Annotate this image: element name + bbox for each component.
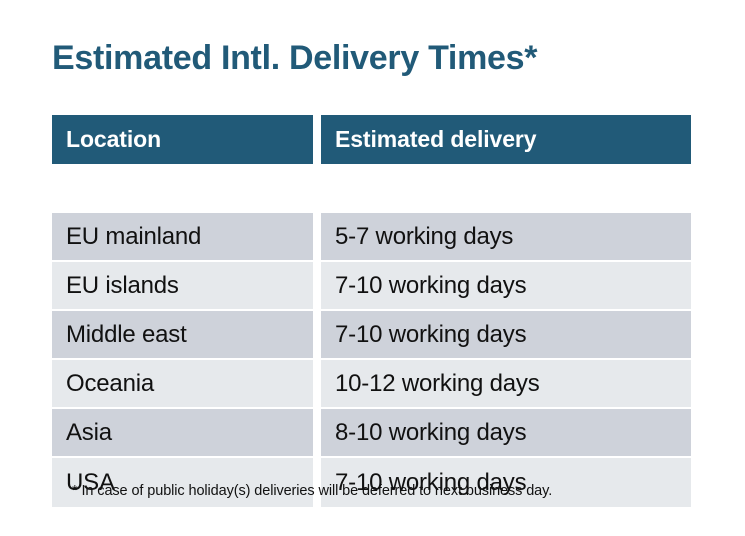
cell-location: EU islands xyxy=(52,262,313,311)
table-header-row: Location Estimated delivery xyxy=(52,115,691,164)
cell-location-text: Asia xyxy=(52,419,313,447)
cell-delivery-text: 7-10 working days xyxy=(321,321,691,349)
column-header-delivery: Estimated delivery xyxy=(321,115,691,164)
cell-location-text: EU mainland xyxy=(52,223,313,251)
row-gutter xyxy=(313,311,321,360)
delivery-times-page: Estimated Intl. Delivery Times* Location… xyxy=(0,0,745,536)
table-row: Asia 8-10 working days xyxy=(52,409,691,458)
cell-location: Middle east xyxy=(52,311,313,360)
column-header-location-label: Location xyxy=(52,126,313,153)
cell-location-text: Oceania xyxy=(52,370,313,398)
cell-location-text: EU islands xyxy=(52,272,313,300)
row-gutter xyxy=(313,360,321,409)
column-header-location: Location xyxy=(52,115,313,164)
spacer-cell-gutter xyxy=(313,164,321,213)
cell-location: EU mainland xyxy=(52,213,313,262)
column-gutter xyxy=(313,115,321,164)
table-row: EU mainland 5-7 working days xyxy=(52,213,691,262)
cell-delivery: 10-12 working days xyxy=(321,360,691,409)
cell-delivery-text: 8-10 working days xyxy=(321,419,691,447)
footnote: * In case of public holiday(s) deliverie… xyxy=(72,483,552,499)
page-title: Estimated Intl. Delivery Times* xyxy=(52,36,537,80)
cell-delivery-text: 10-12 working days xyxy=(321,370,691,398)
table-row: EU islands 7-10 working days xyxy=(52,262,691,311)
delivery-times-table: Location Estimated delivery EU mainland xyxy=(52,115,691,507)
cell-delivery-text: 7-10 working days xyxy=(321,272,691,300)
cell-location: Asia xyxy=(52,409,313,458)
cell-delivery: 7-10 working days xyxy=(321,262,691,311)
table-row: Middle east 7-10 working days xyxy=(52,311,691,360)
cell-delivery-text: 5-7 working days xyxy=(321,223,691,251)
row-gutter xyxy=(313,262,321,311)
cell-delivery: 7-10 working days xyxy=(321,311,691,360)
row-gutter xyxy=(313,409,321,458)
cell-location: Oceania xyxy=(52,360,313,409)
row-gutter xyxy=(313,213,321,262)
spacer-cell-right xyxy=(321,164,691,213)
cell-delivery: 5-7 working days xyxy=(321,213,691,262)
header-body-spacer xyxy=(52,164,691,213)
cell-location-text: Middle east xyxy=(52,321,313,349)
table-header: Location Estimated delivery xyxy=(52,115,691,164)
cell-delivery: 8-10 working days xyxy=(321,409,691,458)
spacer-cell-left xyxy=(52,164,313,213)
table-row: Oceania 10-12 working days xyxy=(52,360,691,409)
column-header-delivery-label: Estimated delivery xyxy=(321,126,691,153)
table-body: EU mainland 5-7 working days EU islands … xyxy=(52,164,691,507)
